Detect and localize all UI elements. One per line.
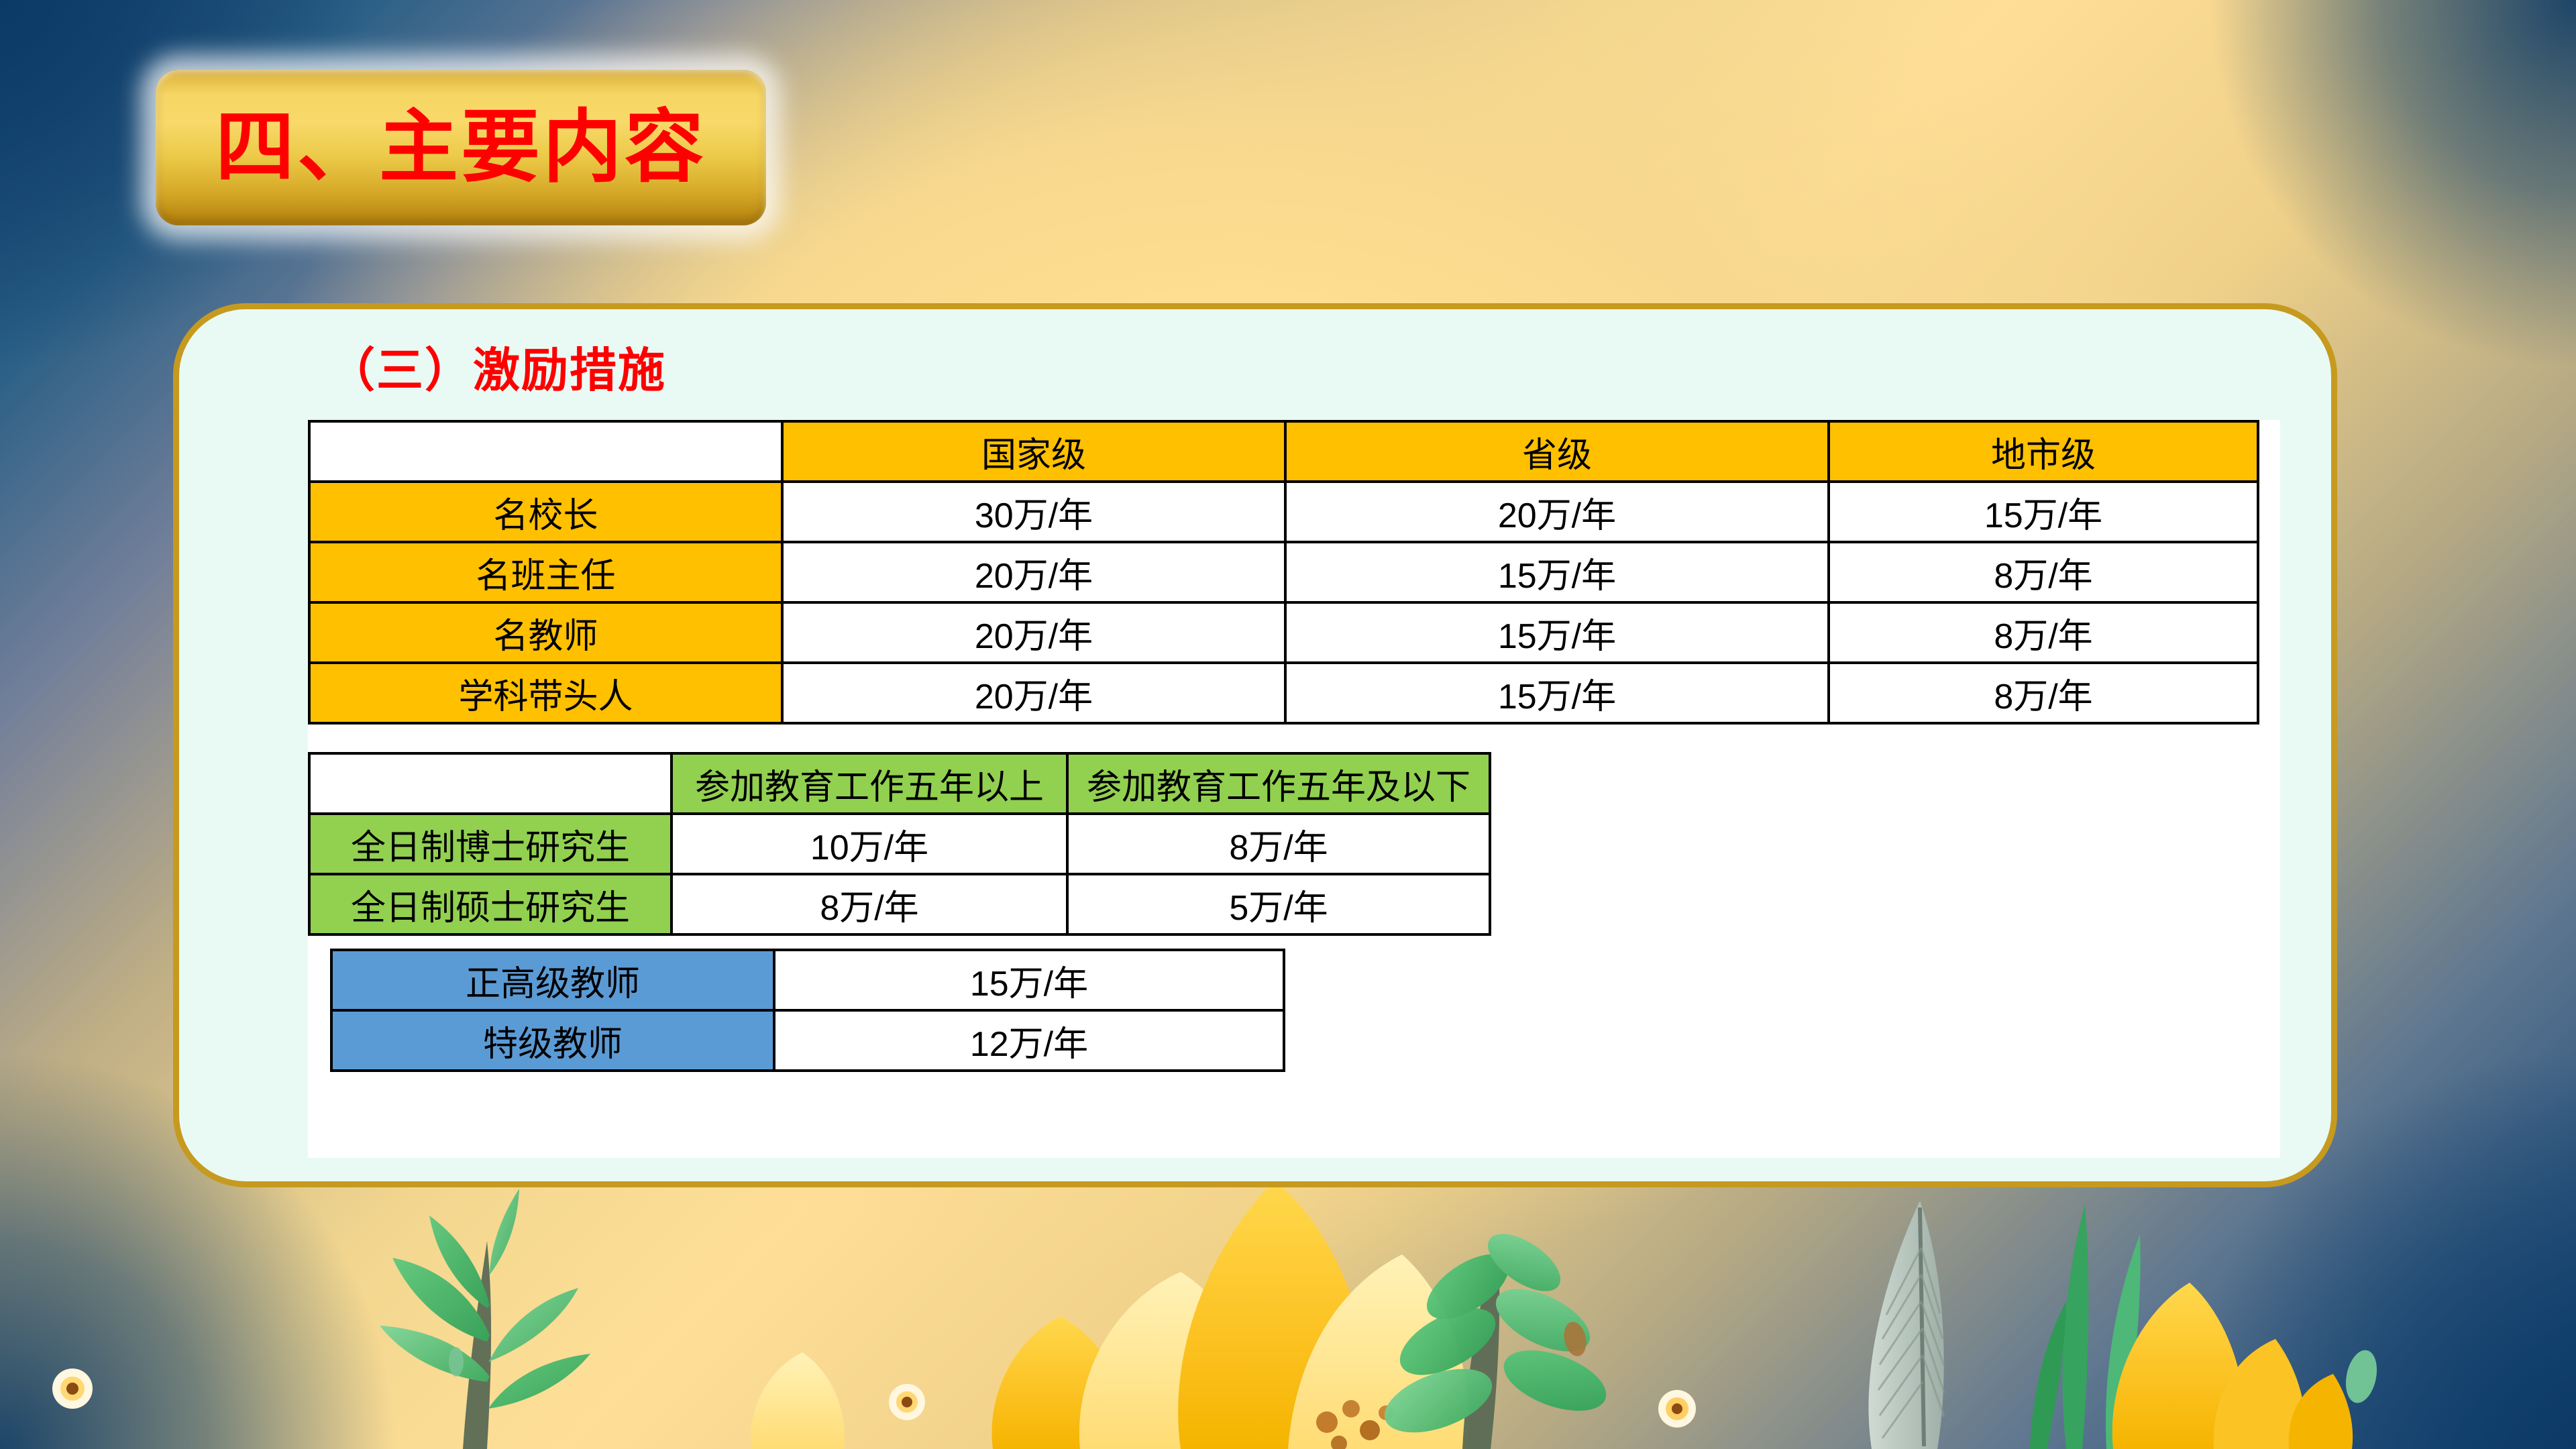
- table-row: 学科带头人 20万/年 15万/年 8万/年: [309, 663, 2258, 723]
- cell-head-teacher-national: 20万/年: [782, 542, 1285, 602]
- table-row: 全日制硕士研究生 8万/年 5万/年: [309, 874, 1490, 934]
- flower-yellow: [2112, 1283, 2353, 1449]
- flower-yellow: [751, 1352, 845, 1449]
- cell-masters-under-five: 5万/年: [1067, 874, 1490, 934]
- cell-discipline-leader-municipal: 8万/年: [1829, 663, 2258, 723]
- column-header-national: 国家级: [782, 421, 1285, 482]
- row-label-principal: 名校长: [309, 482, 782, 542]
- row-label-discipline-leader: 学科带头人: [309, 663, 782, 723]
- table-row: 特级教师 12万/年: [331, 1010, 1284, 1071]
- cell-senior-teacher-amount: 15万/年: [774, 950, 1284, 1010]
- column-header-five-years-or-less: 参加教育工作五年及以下: [1067, 753, 1490, 814]
- row-label-phd: 全日制博士研究生: [309, 814, 672, 874]
- cell-famous-teacher-national: 20万/年: [782, 602, 1285, 663]
- table-row: 名教师 20万/年 15万/年 8万/年: [309, 602, 2258, 663]
- cell-head-teacher-municipal: 8万/年: [1829, 542, 2258, 602]
- cell-phd-over-five: 10万/年: [672, 814, 1067, 874]
- column-header-over-five-years: 参加教育工作五年以上: [672, 753, 1067, 814]
- corner-cell: [309, 753, 672, 814]
- corner-cell: [309, 421, 782, 482]
- column-header-provincial: 省级: [1285, 421, 1829, 482]
- feather-leaf: [1868, 1201, 1944, 1449]
- seed-brown: [1561, 1320, 1589, 1358]
- cell-phd-under-five: 8万/年: [1067, 814, 1490, 874]
- leaf-green: [449, 1347, 464, 1377]
- flower-yellow: [991, 1181, 1468, 1449]
- table-levels: 国家级 省级 地市级 名校长 30万/年 20万/年 15万/年 名班主任 20…: [308, 420, 2259, 724]
- table-titles: 正高级教师 15万/年 特级教师 12万/年: [330, 949, 1285, 1072]
- cell-head-teacher-provincial: 15万/年: [1285, 542, 1829, 602]
- column-header-municipal: 地市级: [1829, 421, 2258, 482]
- cell-principal-national: 30万/年: [782, 482, 1285, 542]
- table-row-header: 国家级 省级 地市级: [309, 421, 2258, 482]
- row-label-special-grade-teacher: 特级教师: [331, 1010, 774, 1071]
- table-degrees: 参加教育工作五年以上 参加教育工作五年及以下 全日制博士研究生 10万/年 8万…: [308, 752, 1491, 936]
- table-row: 全日制博士研究生 10万/年 8万/年: [309, 814, 1490, 874]
- cell-discipline-leader-national: 20万/年: [782, 663, 1285, 723]
- table-row: 名校长 30万/年 20万/年 15万/年: [309, 482, 2258, 542]
- leaf-green: [2341, 1347, 2381, 1405]
- title-banner-label: 四、主要内容: [215, 108, 706, 187]
- cell-principal-municipal: 15万/年: [1829, 482, 2258, 542]
- leaf-green: [1376, 1222, 1614, 1449]
- cell-masters-over-five: 8万/年: [672, 874, 1067, 934]
- title-banner: 四、主要内容: [156, 70, 766, 225]
- cell-special-grade-teacher-amount: 12万/年: [774, 1010, 1284, 1071]
- row-label-head-teacher: 名班主任: [309, 542, 782, 602]
- row-label-famous-teacher: 名教师: [309, 602, 782, 663]
- row-label-masters: 全日制硕士研究生: [309, 874, 672, 934]
- cell-discipline-leader-provincial: 15万/年: [1285, 663, 1829, 723]
- tables-panel: 国家级 省级 地市级 名校长 30万/年 20万/年 15万/年 名班主任 20…: [308, 420, 2280, 1158]
- cell-principal-provincial: 20万/年: [1285, 482, 1829, 542]
- grass-blade: [2030, 1205, 2141, 1449]
- table-row: 正高级教师 15万/年: [331, 950, 1284, 1010]
- cell-famous-teacher-provincial: 15万/年: [1285, 602, 1829, 663]
- section-heading: （三）激励措施: [328, 347, 666, 394]
- table-row: 名班主任 20万/年 15万/年 8万/年: [309, 542, 2258, 602]
- cell-famous-teacher-municipal: 8万/年: [1829, 602, 2258, 663]
- table-row-header: 参加教育工作五年以上 参加教育工作五年及以下: [309, 753, 1490, 814]
- slide-canvas: 四、主要内容 （三）激励措施 国家级 省级 地市级 名校长 30万/年: [0, 0, 2576, 1449]
- daisy-white: [52, 1368, 1696, 1428]
- content-card: （三）激励措施 国家级 省级 地市级 名校长 30万/年 20万/年: [173, 303, 2337, 1187]
- row-label-senior-teacher: 正高级教师: [331, 950, 774, 1010]
- leaf-green: [380, 1189, 590, 1449]
